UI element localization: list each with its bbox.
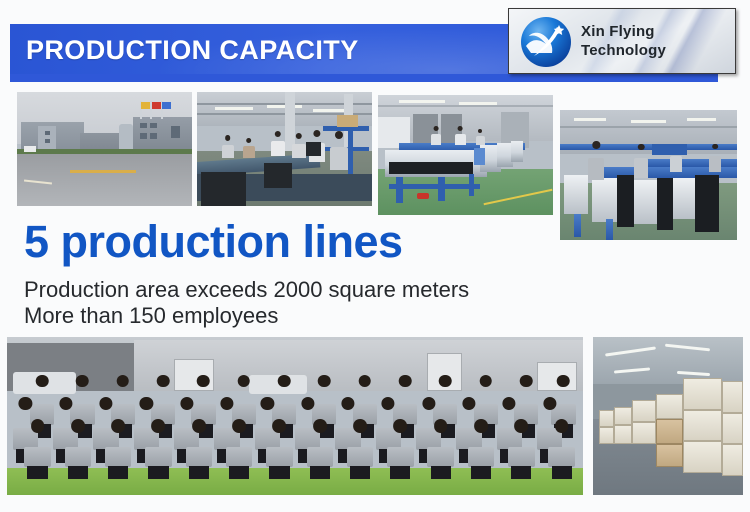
worker-figure: [330, 131, 348, 170]
detail-line-1: Production area exceeds 2000 square mete…: [24, 277, 469, 303]
photo-factory-exterior: [17, 92, 192, 206]
photo-workstation-line: [560, 110, 737, 240]
photo-assembly-line: [197, 92, 372, 206]
worker-figure: [222, 135, 234, 158]
logo-emblem-icon: [519, 15, 573, 69]
logo-text-line2: Technology: [581, 41, 666, 60]
worker-figure: [271, 131, 285, 156]
logo-text-line1: Xin Flying: [581, 22, 666, 41]
detail-line-2: More than 150 employees: [24, 303, 278, 329]
photo-printer-row: [378, 95, 553, 215]
production-capacity-banner: PRODUCTION CAPACITY Xin Flying Technolog…: [0, 0, 750, 512]
group-row-front: [7, 419, 583, 479]
worker-figure: [243, 138, 255, 159]
logo-text: Xin Flying Technology: [581, 22, 666, 60]
worker-figure: [292, 133, 306, 158]
photo-warehouse-crates: [593, 337, 743, 495]
page-title: PRODUCTION CAPACITY: [26, 34, 359, 66]
headline: 5 production lines: [24, 216, 403, 268]
photo-team-group: [7, 337, 583, 495]
company-logo[interactable]: Xin Flying Technology: [508, 8, 736, 74]
